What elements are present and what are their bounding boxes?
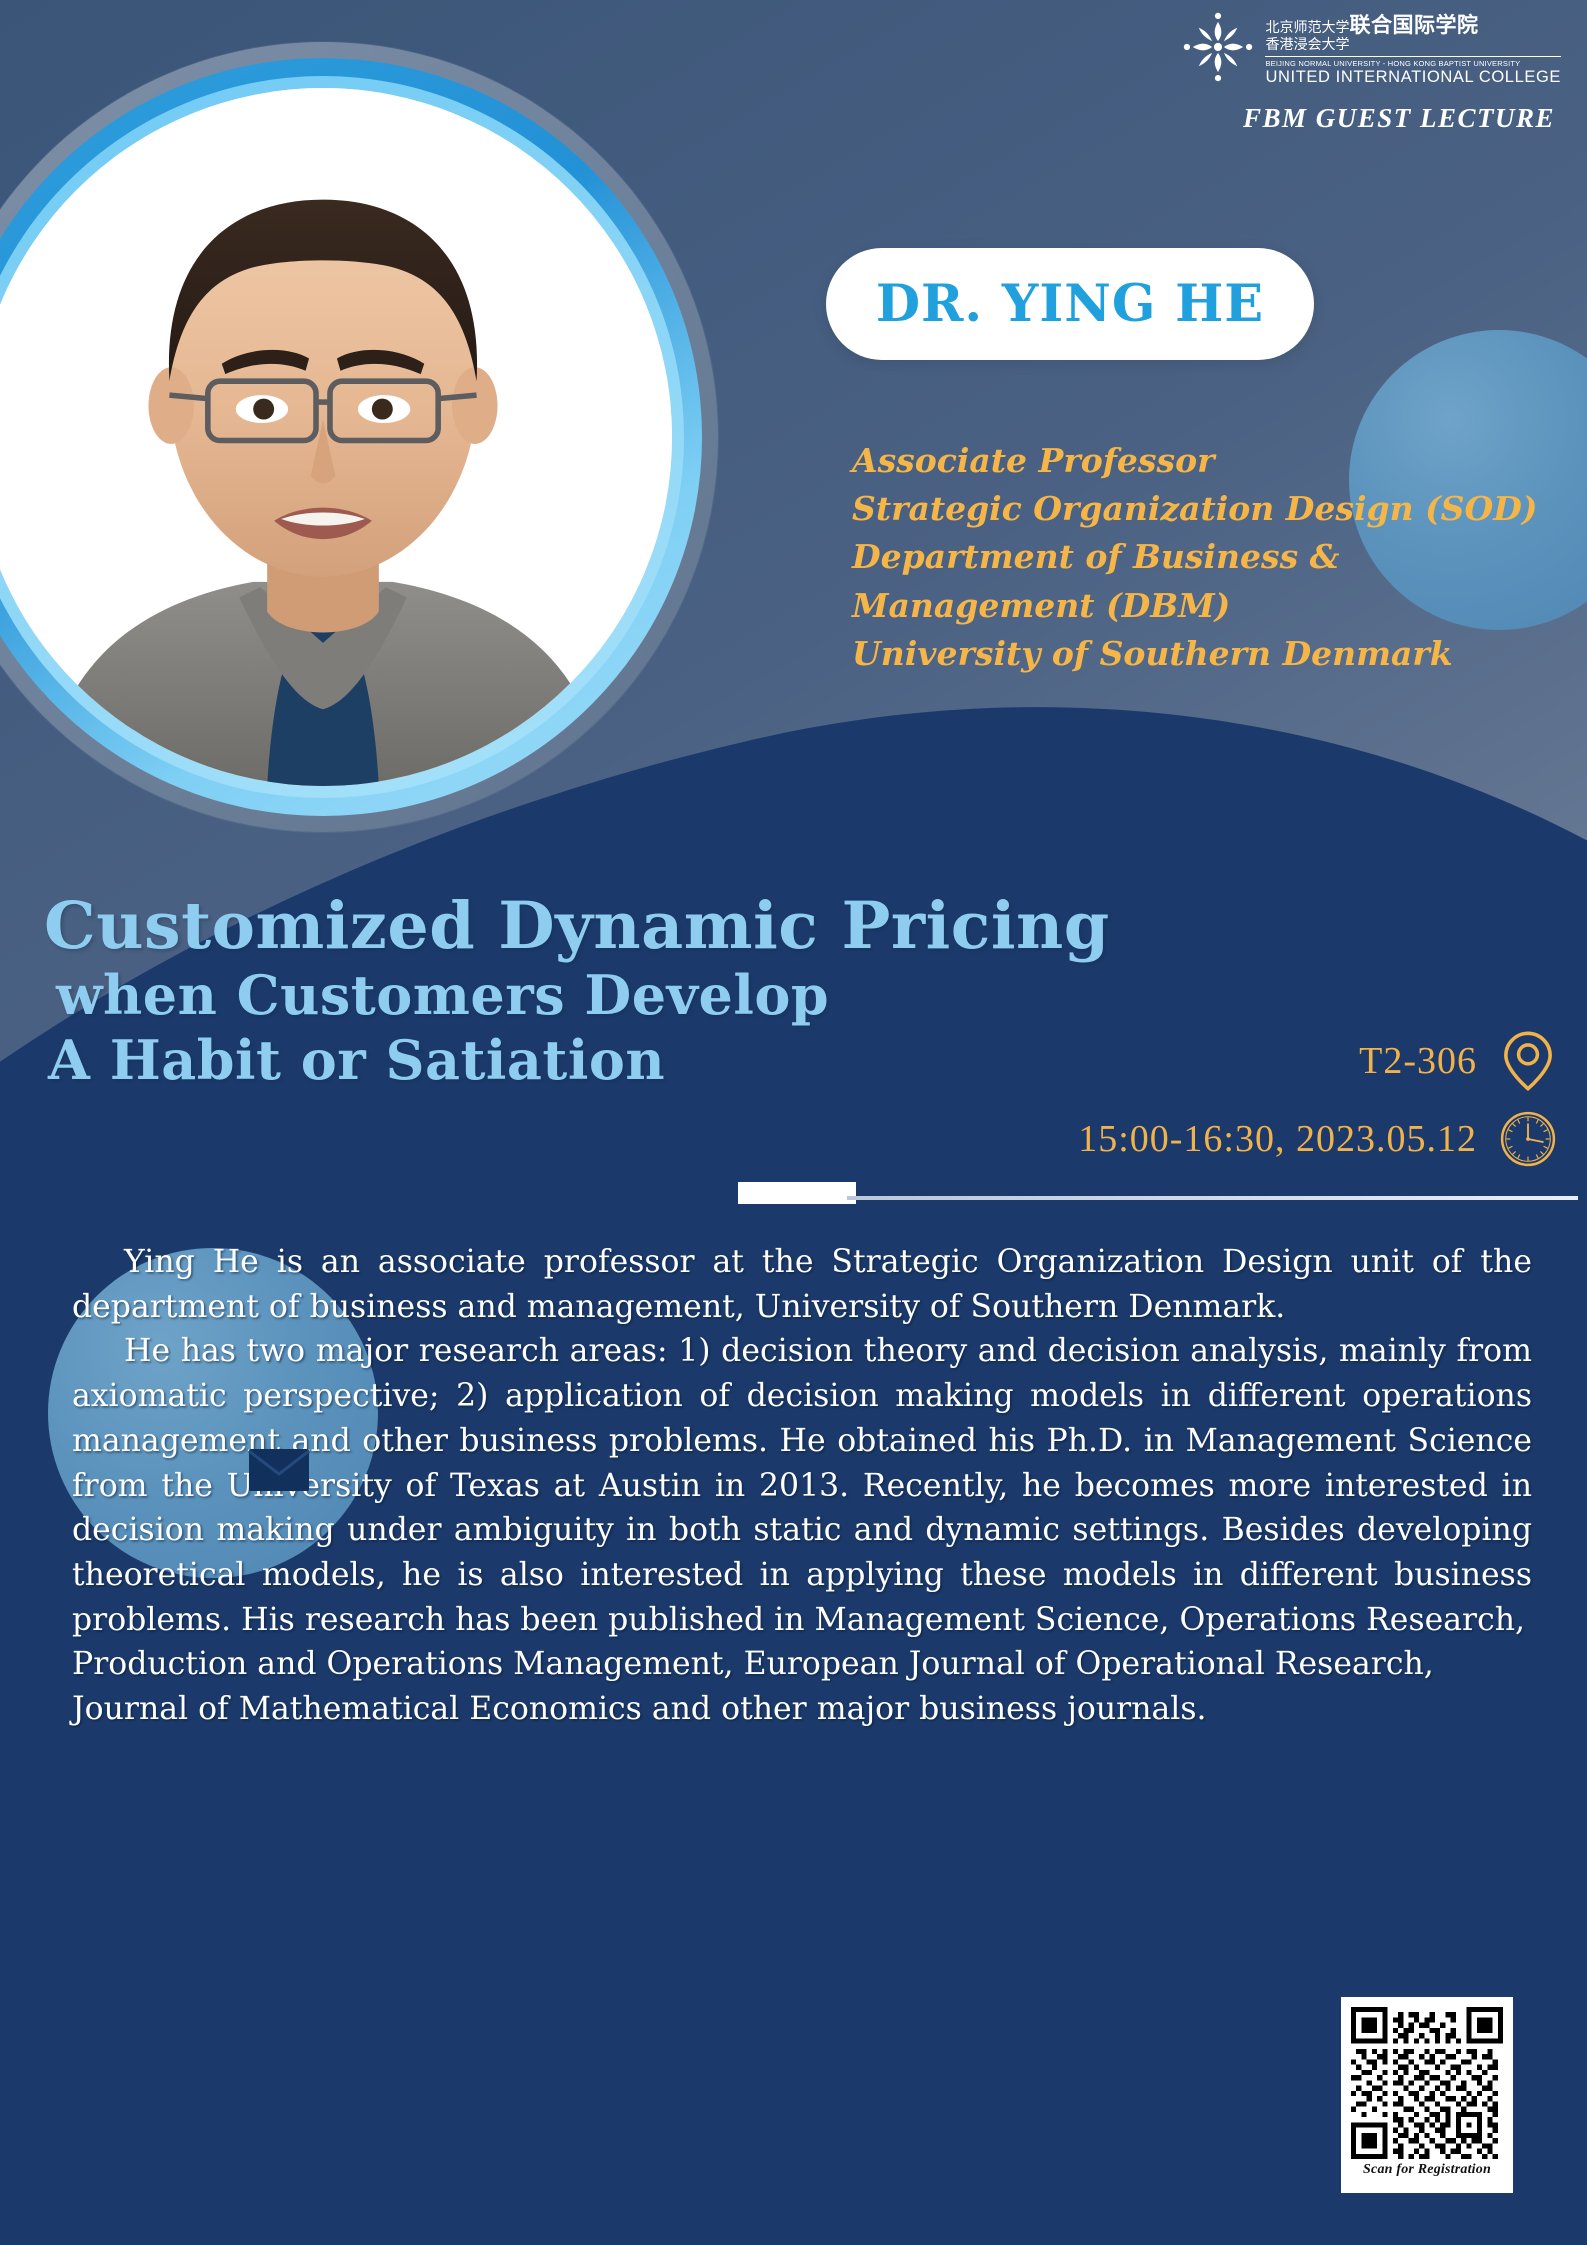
title-line-1: Customized Dynamic Pricing <box>44 890 1324 963</box>
affiliation-line: Strategic Organization Design (SOD) <box>852 485 1572 533</box>
poster-header: 北京师范大学联合国际学院 香港浸会大学 BEIJING NORMAL UNIVE… <box>1001 10 1561 134</box>
logo-cn-line2: 香港浸会大学 <box>1265 37 1349 53</box>
lecture-details: T2-306 15:00-16:30, 2023.05.12 <box>997 1030 1557 1170</box>
university-logo: 北京师范大学联合国际学院 香港浸会大学 BEIJING NORMAL UNIVE… <box>1001 10 1561 87</box>
logo-cn-line1: 北京师范大学 <box>1265 20 1349 36</box>
photo-ring-white <box>0 88 672 786</box>
event-type-label: FBM GUEST LECTURE <box>1001 103 1561 134</box>
registration-qr-code[interactable] <box>1351 2007 1503 2159</box>
registration-qr-box[interactable]: Scan for Registration <box>1341 1997 1513 2193</box>
speaker-name: DR. YING HE <box>876 274 1264 334</box>
section-divider <box>738 1196 1578 1200</box>
logo-cn-big: 联合国际学院 <box>1349 13 1478 37</box>
affiliation-line: University of Southern Denmark <box>852 630 1572 678</box>
logo-english-small: BEIJING NORMAL UNIVERSITY - HONG KONG BA… <box>1265 59 1561 68</box>
affiliation-line: Department of Business & <box>852 533 1572 581</box>
affiliation-line: Associate Professor <box>852 437 1572 485</box>
speaker-affiliation: Associate Professor Strategic Organizati… <box>852 437 1572 678</box>
location-pin-icon <box>1499 1030 1557 1092</box>
time-row: 15:00-16:30, 2023.05.12 <box>997 1108 1557 1170</box>
venue-text: T2-306 <box>1359 1039 1477 1083</box>
divider-cap <box>738 1182 856 1204</box>
envelope-icon <box>248 1448 310 1492</box>
lecture-poster: 北京师范大学联合国际学院 香港浸会大学 BEIJING NORMAL UNIVE… <box>0 0 1587 2245</box>
qr-caption: Scan for Registration <box>1363 2162 1491 2178</box>
clock-icon <box>1499 1108 1557 1170</box>
bio-paragraph-1: Ying He is an associate professor at the… <box>72 1240 1532 1329</box>
affiliation-line: Management (DBM) <box>852 582 1572 630</box>
speaker-name-badge: DR. YING HE <box>826 248 1314 360</box>
logo-divider <box>1265 56 1561 57</box>
title-line-2: when Customers Develop <box>44 963 1324 1028</box>
uic-snowflake-logo-icon <box>1181 10 1255 84</box>
logo-wordmark: 北京师范大学联合国际学院 香港浸会大学 BEIJING NORMAL UNIVE… <box>1265 10 1561 87</box>
logo-english-big: UNITED INTERNATIONAL COLLEGE <box>1265 68 1561 87</box>
speaker-photo-frame <box>0 42 718 832</box>
logo-chinese-text: 北京师范大学联合国际学院 香港浸会大学 <box>1265 14 1561 53</box>
time-text: 15:00-16:30, 2023.05.12 <box>1078 1117 1477 1161</box>
speaker-portrait <box>0 88 672 786</box>
bio-paragraph-3: Production and Operations Management, Eu… <box>72 1642 1532 1731</box>
venue-row: T2-306 <box>997 1030 1557 1092</box>
